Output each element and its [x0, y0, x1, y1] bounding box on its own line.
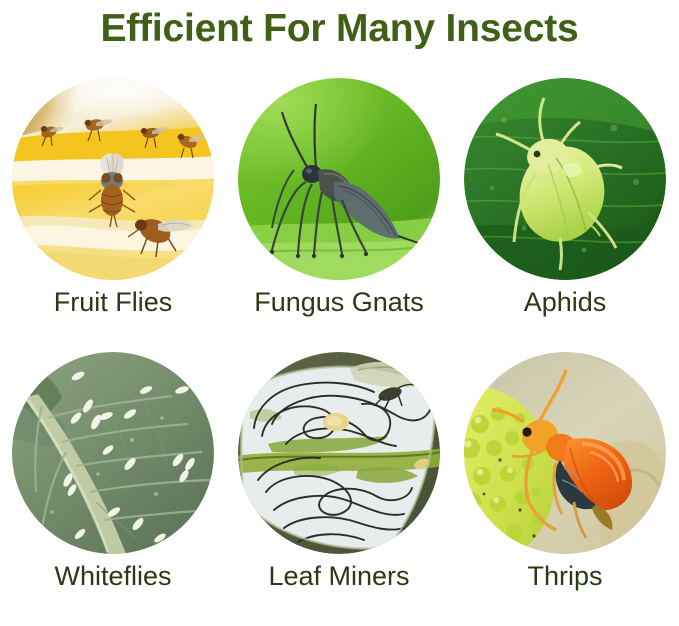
insect-grid: Fruit Flies — [0, 78, 679, 607]
grid-item-fungus-gnats: Fungus Gnats — [226, 78, 452, 352]
insect-label-whiteflies: Whiteflies — [0, 559, 226, 593]
insect-label-aphids: Aphids — [452, 285, 678, 319]
insect-photo-fruit-flies — [12, 78, 214, 280]
grid-item-aphids: Aphids — [452, 78, 678, 352]
page-title: Efficient For Many Insects — [0, 6, 679, 52]
insect-label-leaf-miners: Leaf Miners — [226, 559, 452, 593]
infographic-page: Efficient For Many Insects — [0, 0, 679, 607]
grid-item-whiteflies: Whiteflies — [0, 352, 226, 626]
grid-item-thrips: Thrips — [452, 352, 678, 626]
insect-photo-fungus-gnats — [238, 78, 440, 280]
insect-label-fungus-gnats: Fungus Gnats — [226, 285, 452, 319]
insect-label-fruit-flies: Fruit Flies — [0, 285, 226, 319]
insect-photo-thrips — [464, 352, 666, 554]
grid-item-fruit-flies: Fruit Flies — [0, 78, 226, 352]
insect-photo-aphids — [464, 78, 666, 280]
insect-photo-whiteflies — [12, 352, 214, 554]
insect-photo-leaf-miners — [238, 352, 440, 554]
grid-item-leaf-miners: Leaf Miners — [226, 352, 452, 626]
insect-label-thrips: Thrips — [452, 559, 678, 593]
